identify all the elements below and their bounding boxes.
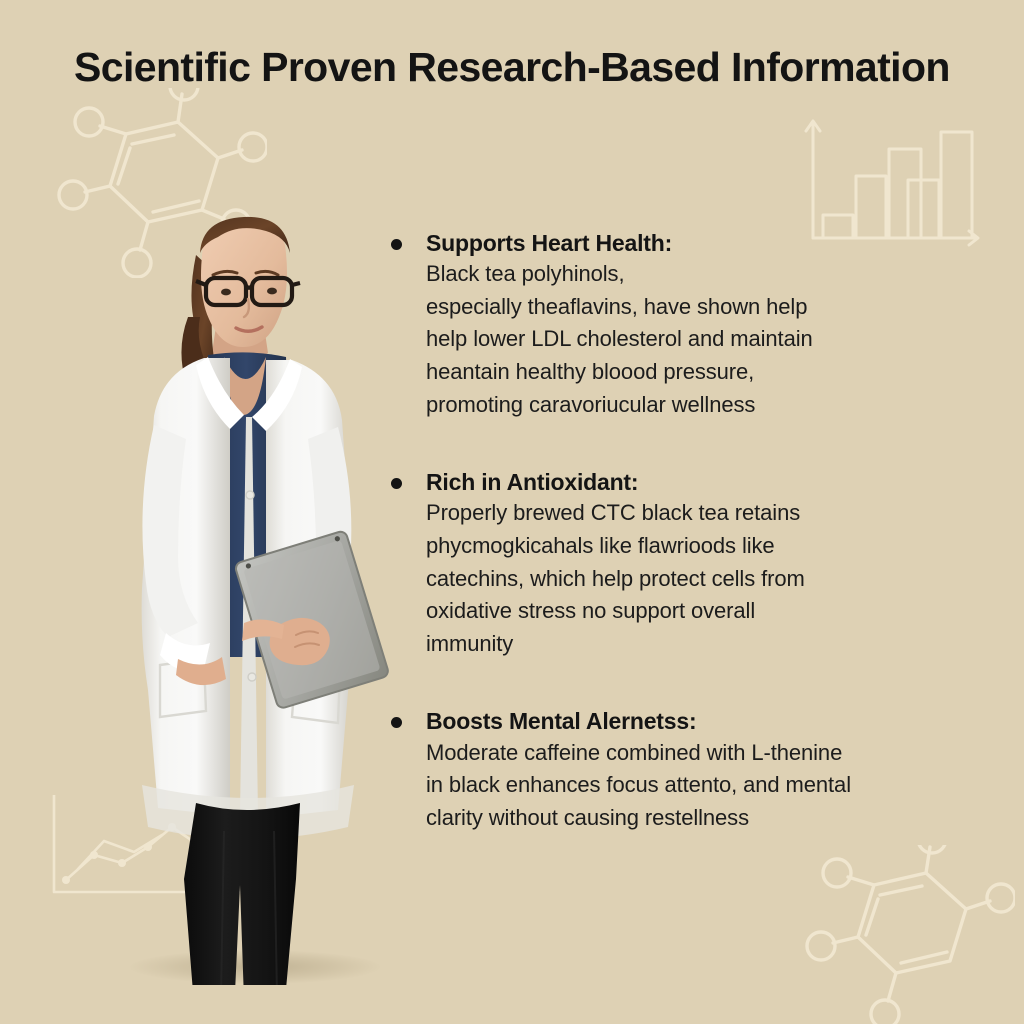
bullet-icon	[391, 717, 402, 728]
benefit-body: Properly brewed CTC black tea retains ph…	[426, 497, 988, 660]
page-title: Scientific Proven Research-Based Informa…	[74, 44, 974, 91]
benefit-body: Black tea polyhinols, especially theafla…	[426, 258, 988, 421]
poster-canvas: Scientific Proven Research-Based Informa…	[0, 0, 1024, 1024]
benefit-body: Moderate caffeine combined with L-thenin…	[426, 737, 988, 835]
list-item: Boosts Mental Alernetss: Moderate caffei…	[388, 706, 988, 834]
list-item: Rich in Antioxidant: Properly brewed CTC…	[388, 467, 988, 660]
scientist-photo	[100, 195, 400, 985]
list-item: Supports Heart Health: Black tea polyhin…	[388, 228, 988, 421]
benefits-list: Supports Heart Health: Black tea polyhin…	[388, 228, 988, 880]
benefit-heading: Rich in Antioxidant:	[426, 467, 988, 497]
benefit-heading: Boosts Mental Alernetss:	[426, 706, 988, 736]
bullet-icon	[391, 239, 402, 250]
benefit-heading: Supports Heart Health:	[426, 228, 988, 258]
bullet-icon	[391, 478, 402, 489]
